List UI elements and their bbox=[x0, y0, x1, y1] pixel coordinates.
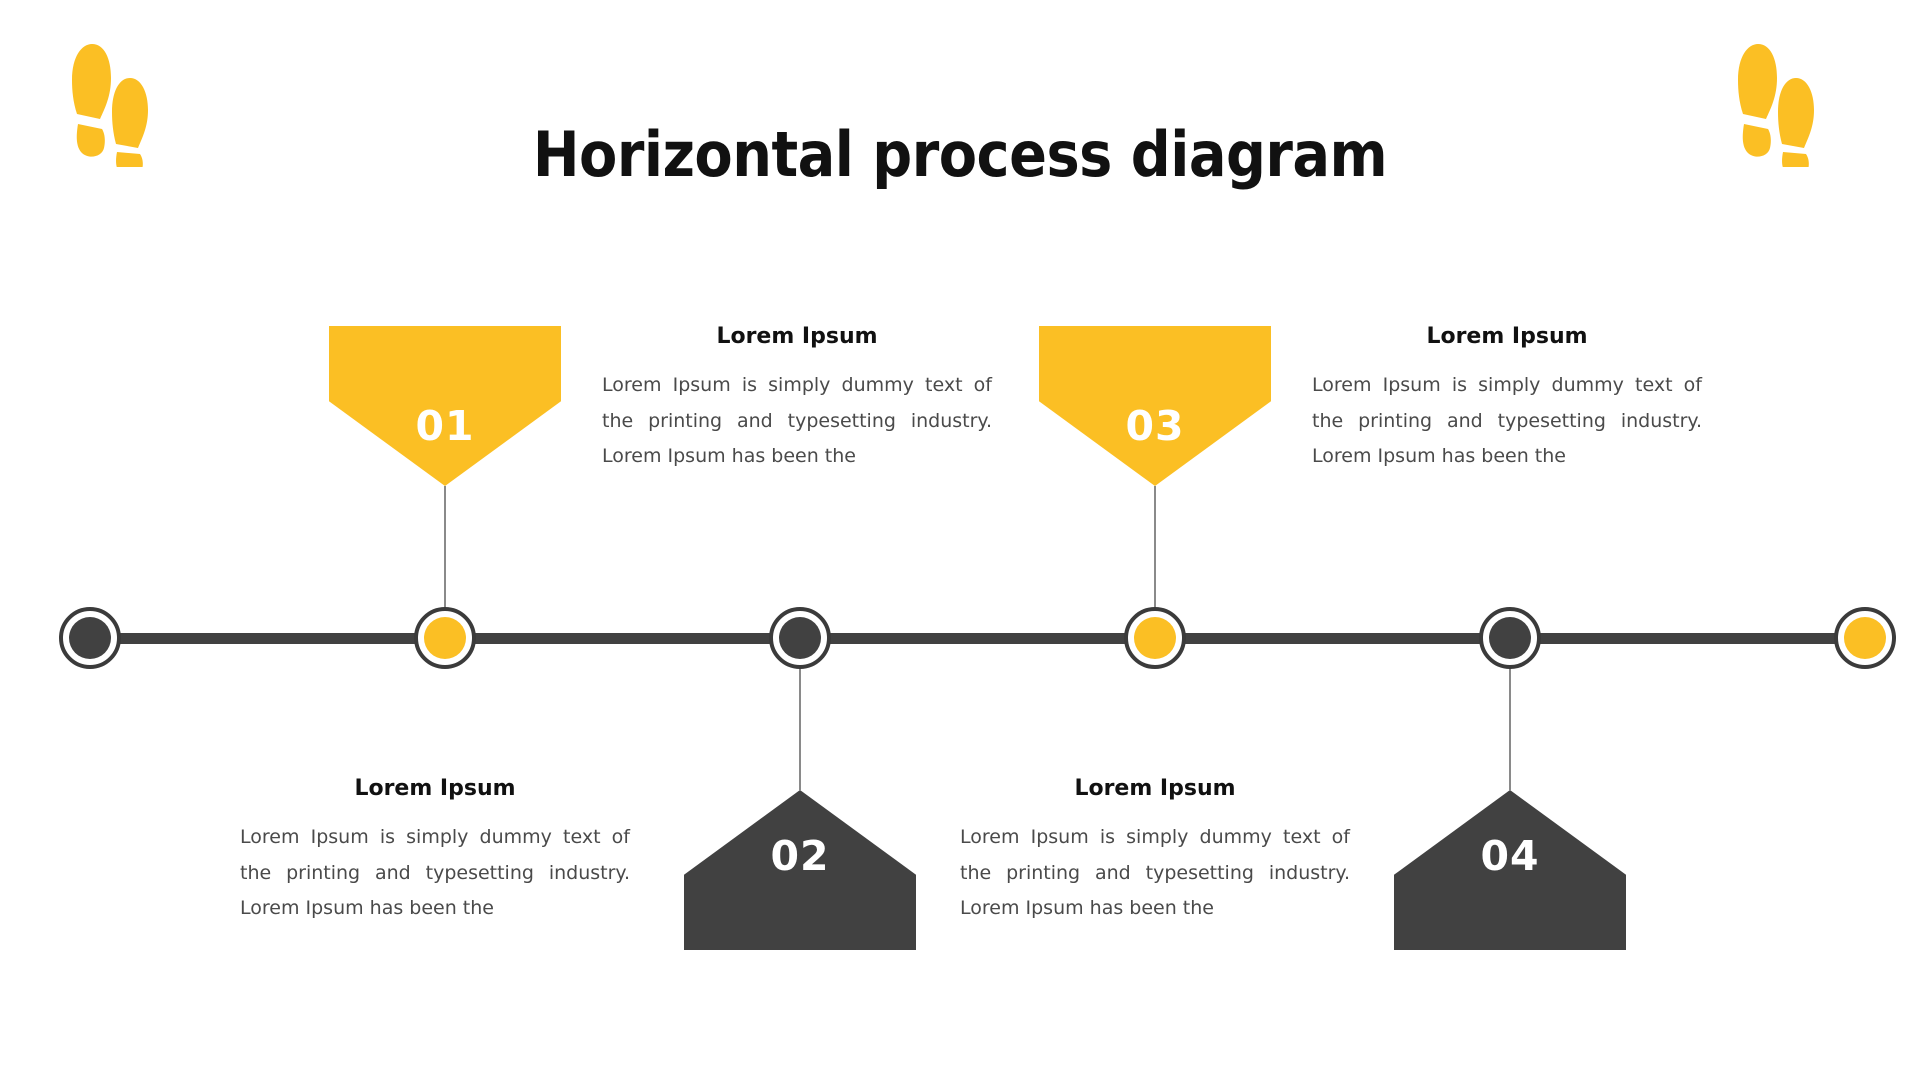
step-body-04: Lorem Ipsum is simply dummy text of the … bbox=[960, 820, 1350, 927]
step-heading-03: Lorem Ipsum bbox=[1312, 324, 1702, 349]
step-heading-02: Lorem Ipsum bbox=[240, 776, 630, 801]
slide-canvas: Horizontal process diagram 01 02 03 04 L… bbox=[0, 0, 1920, 1080]
step-text-block-01: Lorem Ipsum Lorem Ipsum is simply dummy … bbox=[602, 324, 992, 475]
step-text-block-04: Lorem Ipsum Lorem Ipsum is simply dummy … bbox=[960, 776, 1350, 927]
node-core bbox=[779, 617, 821, 659]
timeline-node-1[interactable] bbox=[59, 607, 121, 669]
step-text-block-03: Lorem Ipsum Lorem Ipsum is simply dummy … bbox=[1312, 324, 1702, 475]
timeline-node-6[interactable] bbox=[1834, 607, 1896, 669]
step-number-03: 03 bbox=[1125, 402, 1184, 450]
step-body-01: Lorem Ipsum is simply dummy text of the … bbox=[602, 368, 992, 475]
step-badge-04[interactable]: 04 bbox=[1394, 790, 1626, 950]
timeline-node-2[interactable] bbox=[414, 607, 476, 669]
node-core bbox=[1489, 617, 1531, 659]
step-number-01: 01 bbox=[415, 402, 474, 450]
page-title: Horizontal process diagram bbox=[0, 122, 1920, 187]
timeline-node-4[interactable] bbox=[1124, 607, 1186, 669]
node-core bbox=[424, 617, 466, 659]
timeline-node-3[interactable] bbox=[769, 607, 831, 669]
step-badge-03[interactable]: 03 bbox=[1039, 326, 1271, 486]
step-text-block-02: Lorem Ipsum Lorem Ipsum is simply dummy … bbox=[240, 776, 630, 927]
step-heading-01: Lorem Ipsum bbox=[602, 324, 992, 349]
node-core bbox=[69, 617, 111, 659]
timeline-track bbox=[90, 633, 1880, 644]
step-badge-01[interactable]: 01 bbox=[329, 326, 561, 486]
step-badge-02[interactable]: 02 bbox=[684, 790, 916, 950]
step-body-02: Lorem Ipsum is simply dummy text of the … bbox=[240, 820, 630, 927]
node-core bbox=[1844, 617, 1886, 659]
step-heading-04: Lorem Ipsum bbox=[960, 776, 1350, 801]
node-core bbox=[1134, 617, 1176, 659]
step-number-04: 04 bbox=[1480, 832, 1539, 880]
step-number-02: 02 bbox=[770, 832, 829, 880]
timeline-node-5[interactable] bbox=[1479, 607, 1541, 669]
step-body-03: Lorem Ipsum is simply dummy text of the … bbox=[1312, 368, 1702, 475]
